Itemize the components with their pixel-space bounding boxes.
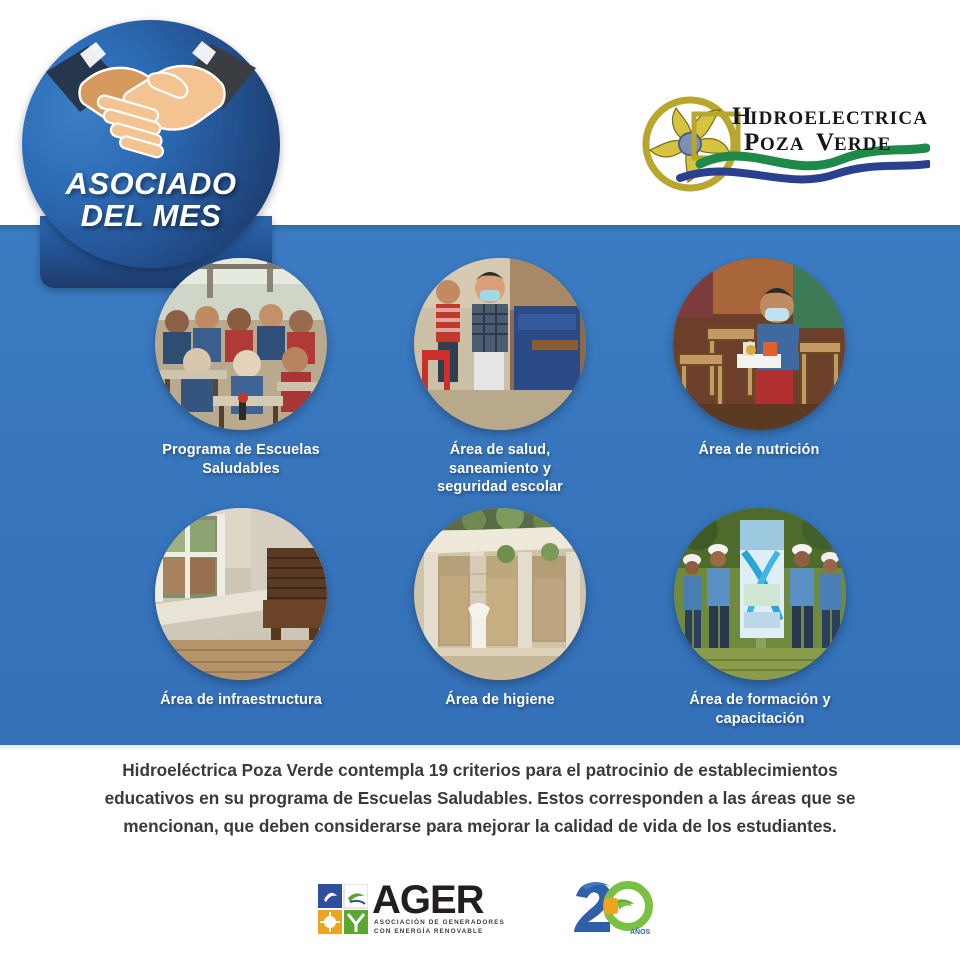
area-photo-area-higiene — [414, 508, 586, 680]
area-caption-area-formacion-capacitacion: Área de formación ycapacitación — [655, 691, 865, 728]
ager-tagline: ASOCIACIÓN DE GENERADORES CON ENERGÍA RE… — [374, 918, 530, 937]
20-anos-logo: AÑOS — [568, 878, 654, 940]
area-caption-programa-escuelas-saludables: Programa de EscuelasSaludables — [146, 441, 336, 478]
ager-logo: AGER ASOCIACIÓN DE GENERADORES CON ENERG… — [318, 880, 530, 938]
asociado-del-mes-badge: ASOCIADO DEL MES — [22, 20, 280, 268]
area-caption-area-higiene: Área de higiene — [405, 691, 595, 710]
area-card-area-nutricion: Área de nutrición — [664, 258, 854, 460]
area-card-programa-escuelas-saludables: Programa de EscuelasSaludables — [146, 258, 336, 478]
svg-text:V: V — [816, 129, 834, 156]
svg-text:ERDE: ERDE — [834, 134, 892, 155]
badge-text: ASOCIADO DEL MES — [22, 168, 280, 231]
band-bottom-shadow — [0, 745, 960, 751]
ager-emblem-icon — [318, 884, 368, 934]
area-caption-area-nutricion: Área de nutrición — [664, 441, 854, 460]
svg-text:OZA: OZA — [760, 134, 805, 155]
area-photo-area-salud-saneamiento — [414, 258, 586, 430]
area-photo-area-nutricion — [673, 258, 845, 430]
area-photo-programa-escuelas-saludables — [155, 258, 327, 430]
poster-canvas: ASOCIADO DEL MES — [0, 0, 960, 960]
badge-line-1: ASOCIADO — [22, 168, 280, 200]
area-card-area-formacion-capacitacion: Área de formación ycapacitación — [655, 508, 865, 728]
hidroelectrica-poza-verde-logo: H IDROELECTRICA P OZA V ERDE — [640, 92, 930, 196]
ager-tagline-line-1: ASOCIACIÓN DE GENERADORES — [374, 918, 530, 927]
svg-text:P: P — [744, 129, 759, 156]
area-card-area-salud-saneamiento: Área de salud,saneamiento yseguridad esc… — [405, 258, 595, 497]
svg-text:H: H — [732, 103, 752, 130]
area-caption-area-salud-saneamiento: Área de salud,saneamiento yseguridad esc… — [405, 441, 595, 497]
area-card-area-higiene: Área de higiene — [405, 508, 595, 710]
badge-line-2: DEL MES — [22, 200, 280, 232]
handshake-icon — [44, 38, 258, 168]
ager-tagline-line-2: CON ENERGÍA RENOVABLE — [374, 927, 530, 936]
area-card-area-infraestructura: Área de infraestructura — [136, 508, 346, 710]
area-photo-area-infraestructura — [155, 508, 327, 680]
description-paragraph: Hidroeléctrica Poza Verde contempla 19 c… — [90, 757, 870, 841]
area-photo-area-formacion-capacitacion — [674, 508, 846, 680]
ager-wordmark: AGER — [372, 880, 484, 920]
footer-logos: AGER ASOCIACIÓN DE GENERADORES CON ENERG… — [0, 878, 960, 948]
svg-text:IDROELECTRICA: IDROELECTRICA — [750, 108, 928, 129]
anos-label: AÑOS — [630, 927, 651, 936]
area-caption-area-infraestructura: Área de infraestructura — [136, 691, 346, 710]
